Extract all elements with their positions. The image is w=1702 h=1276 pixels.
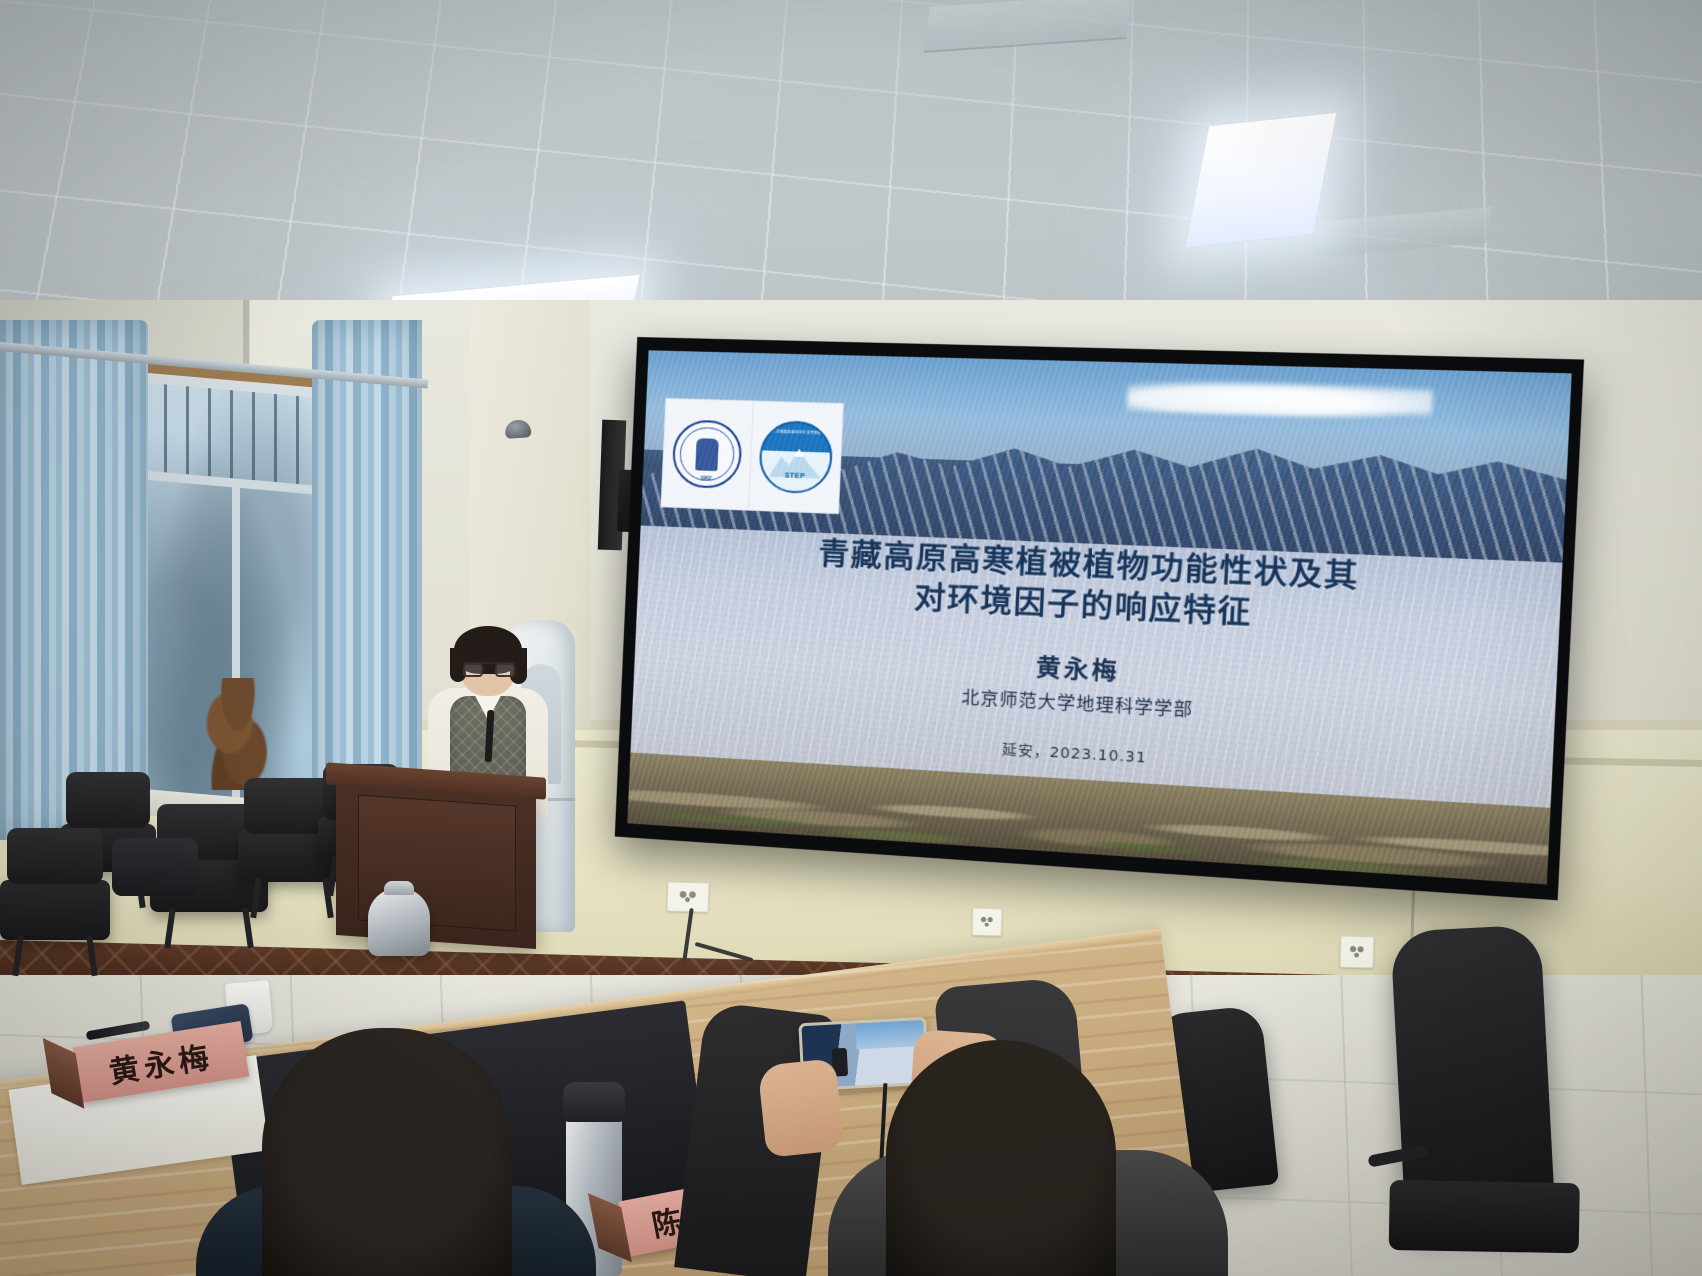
audience-head-right: [886, 1040, 1116, 1276]
led-display[interactable]: 1902 第二次青藏高原综合科学考察研究 STEP 青藏高原高寒植被植物功能性状…: [615, 337, 1584, 900]
slide-logo-bar: 1902 第二次青藏高原综合科学考察研究 STEP: [660, 398, 843, 514]
driftwood-ornament: [196, 678, 280, 790]
bnu-logo-icon: 1902: [661, 399, 753, 509]
kettle-lid: [384, 881, 414, 895]
curtain-left: [0, 320, 148, 840]
backpack: [112, 838, 198, 896]
thermos-cap: [563, 1082, 625, 1122]
chair-right-seat: [1389, 1180, 1580, 1253]
bnu-bell-glyph: [696, 438, 719, 471]
step-arc-text: 第二次青藏高原综合科学考察研究: [763, 428, 832, 435]
audience-head-left: [262, 1028, 512, 1276]
window-security-bars: [142, 382, 316, 485]
podium: [336, 775, 536, 949]
electric-kettle: [368, 888, 430, 956]
glasses-icon: [463, 662, 515, 675]
nameplate-1-text: 黄永梅: [106, 1032, 217, 1092]
chair-right-foreground: [1390, 924, 1555, 1231]
bnu-year-label: 1902: [700, 476, 711, 482]
step-label: STEP: [761, 472, 830, 482]
presentation-slide: 1902 第二次青藏高原综合科学考察研究 STEP 青藏高原高寒植被植物功能性状…: [627, 350, 1571, 884]
ceiling-light-panel-right: [1184, 112, 1337, 249]
wall-outlet-right: [1340, 936, 1375, 969]
wall-outlet-left: [667, 881, 710, 912]
wall-outlet-center: [972, 908, 1003, 937]
photo-scene: 1902 第二次青藏高原综合科学考察研究 STEP 青藏高原高寒植被植物功能性状…: [0, 0, 1702, 1276]
chair-back-5: [0, 880, 110, 940]
photographer-left-hand: [757, 1058, 844, 1158]
step-logo-icon: 第二次青藏高原综合科学考察研究 STEP: [748, 402, 842, 513]
